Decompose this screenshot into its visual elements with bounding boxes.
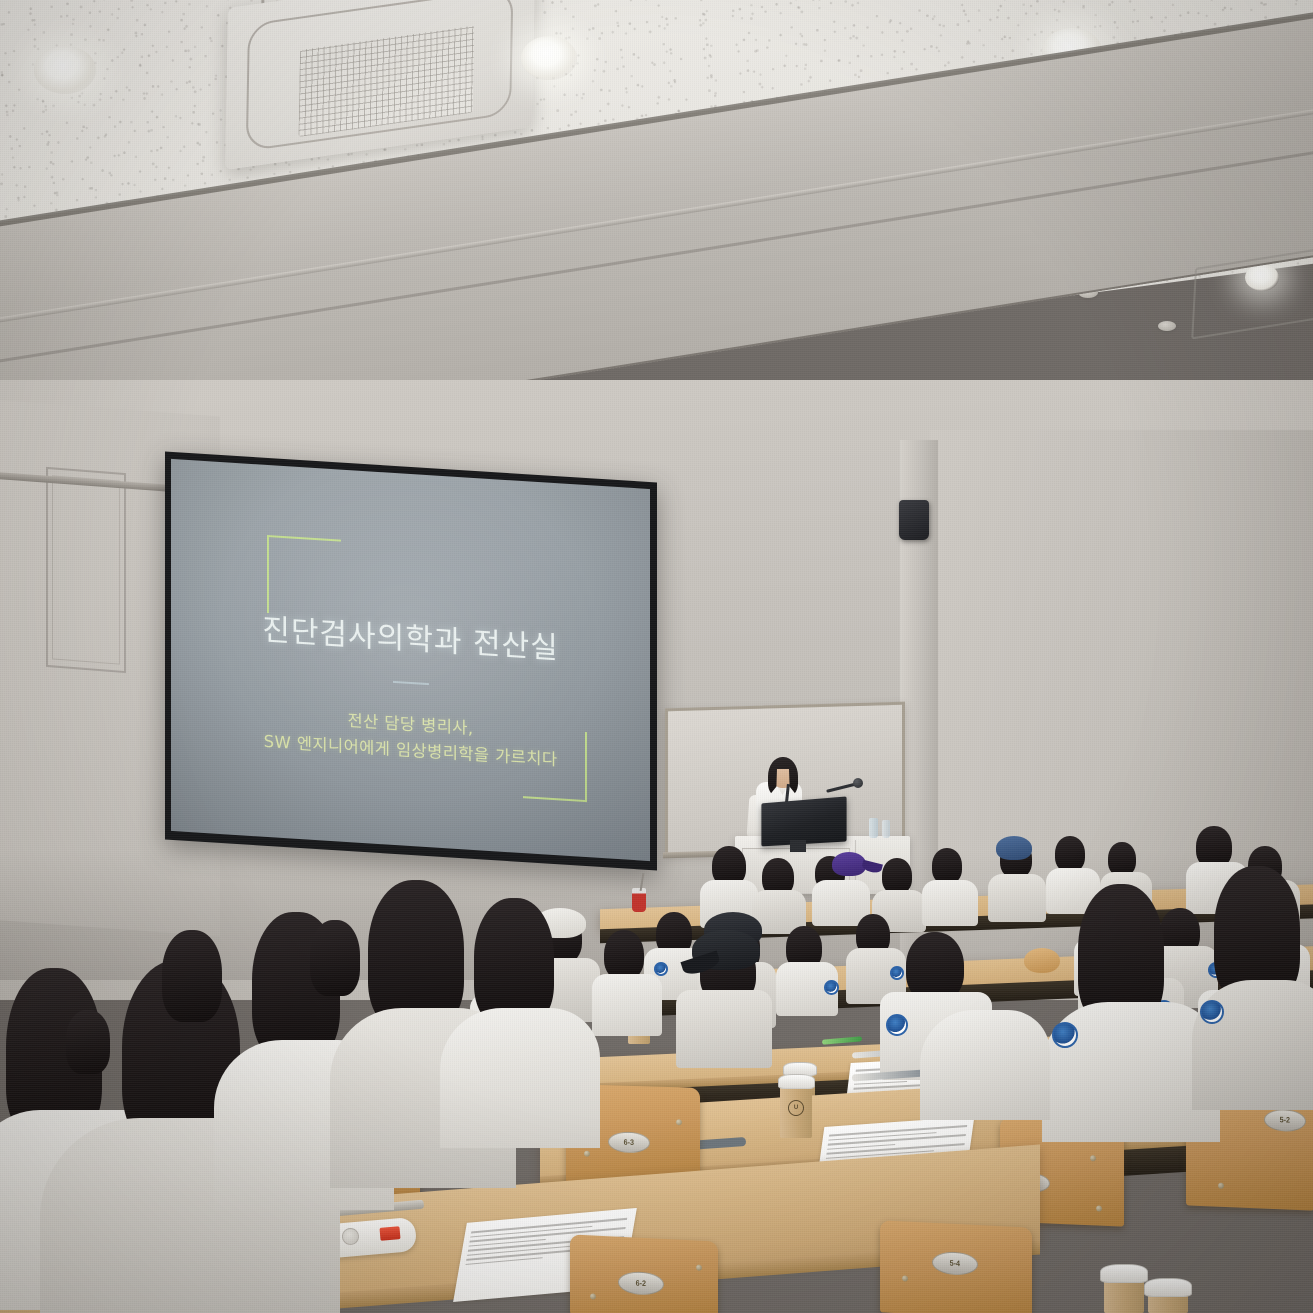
university-emblem-icon: [1052, 1022, 1078, 1048]
audience-head: [1108, 842, 1136, 876]
lecture-hall-photo: 진단검사의학과 전산실 전산 담당 병리사, SW 엔지니어에게 임상병리학을 …: [0, 0, 1313, 1313]
coffee-cup-sleeve: [1104, 1278, 1144, 1313]
microphone-icon: [853, 778, 863, 788]
audience-torso: [922, 880, 978, 926]
slide-divider: [393, 681, 429, 685]
wall-recess-inner: [52, 475, 120, 664]
audience-torso: [676, 990, 772, 1068]
seat-number-plate: 5-4: [932, 1251, 978, 1276]
university-emblem-icon: [654, 962, 668, 976]
audience-torso: [920, 1010, 1050, 1120]
seat-number-plate: 6-2: [618, 1271, 664, 1296]
downlight-icon: [34, 46, 96, 94]
seat-number-plate: 5-2: [1264, 1109, 1306, 1133]
pen-icon: [822, 1036, 862, 1044]
coffee-cup-lid: [778, 1074, 815, 1089]
water-bottle-icon: [882, 820, 890, 838]
presenter-monitor-icon: [761, 796, 846, 846]
projection-screen: 진단검사의학과 전산실 전산 담당 병리사, SW 엔지니어에게 임상병리학을 …: [171, 459, 650, 861]
iced-drink-cup-icon: [632, 888, 646, 912]
wall-speaker-icon: [899, 500, 929, 540]
blue-cap-icon: [996, 836, 1032, 860]
audience-head: [66, 1010, 110, 1074]
bread-roll-icon: [1024, 948, 1060, 973]
audience-head: [882, 858, 912, 894]
university-emblem-icon: [890, 966, 904, 980]
slide-subtitle: 전산 담당 병리사, SW 엔지니어에게 임상병리학을 가르치다: [171, 697, 650, 779]
audience-torso: [440, 1008, 600, 1148]
power-switch[interactable]: [379, 1226, 400, 1241]
audience-head: [604, 930, 644, 980]
audience-head: [162, 930, 222, 1022]
audience-torso: [988, 874, 1046, 922]
university-emblem-icon: [824, 980, 839, 995]
slide-title: 진단검사의학과 전산실: [171, 599, 650, 673]
coffee-cup-lid: [1100, 1264, 1148, 1283]
chair-back[interactable]: 6-2: [570, 1234, 718, 1313]
ceiling-vent-icon: [1158, 321, 1176, 331]
coffee-cup-logo: U: [788, 1100, 804, 1116]
audience-head: [474, 898, 554, 1026]
water-bottle-icon: [869, 818, 878, 838]
monitor-stand: [790, 840, 806, 852]
audience-head: [932, 848, 962, 884]
seat-number-plate: 6-3: [608, 1131, 650, 1153]
purple-cap-icon: [832, 852, 866, 876]
university-emblem-icon: [1200, 1000, 1224, 1024]
audience-torso: [592, 974, 662, 1036]
audience-head: [1055, 836, 1085, 872]
coffee-cup-lid: [1144, 1278, 1192, 1297]
university-emblem-icon: [886, 1014, 908, 1036]
downlight-icon: [521, 36, 577, 80]
chair-back[interactable]: 5-4: [880, 1220, 1032, 1313]
audience-head: [310, 920, 360, 996]
